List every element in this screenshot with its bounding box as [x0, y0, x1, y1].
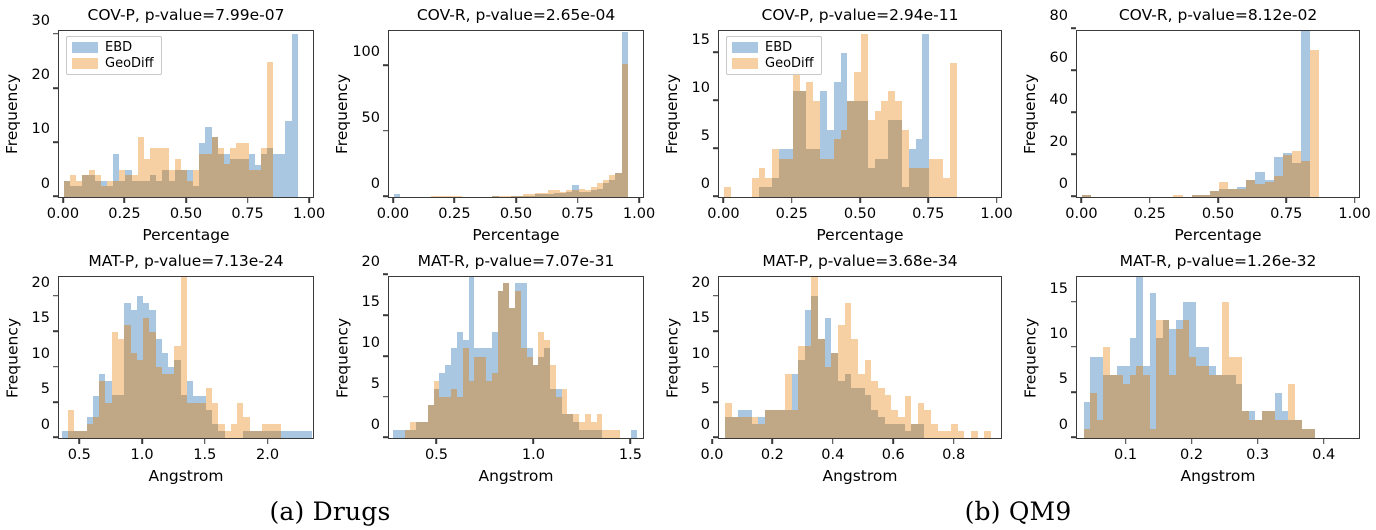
histogram-bar: [732, 417, 739, 438]
bars-layer: [1077, 277, 1359, 438]
plot-area: 0510150.10.20.30.4: [1076, 276, 1360, 439]
y-tick-label: 20: [362, 254, 388, 269]
y-tick-mark: [713, 401, 718, 403]
histogram-bar: [1196, 347, 1203, 365]
histogram-bar: [785, 410, 792, 438]
histogram-bar: [622, 64, 628, 197]
histogram-bar: [1143, 375, 1150, 438]
histogram-bar: [1262, 411, 1269, 438]
histogram-bar: [895, 101, 902, 120]
subfigure-caption-drugs: (a) Drugs: [0, 497, 660, 526]
histogram-bar: [1249, 411, 1256, 420]
histogram-bar: [1310, 50, 1319, 197]
x-tick-label: 0.75: [1270, 198, 1302, 222]
histogram-bar: [1130, 375, 1137, 438]
histogram-bar: [1274, 157, 1283, 176]
y-tick-mark: [713, 196, 718, 198]
y-tick-label: 0: [41, 176, 58, 191]
y-tick-label: 10: [692, 80, 718, 95]
axes-frame: EBDGeoDiff: [718, 30, 1002, 198]
axes-frame: [58, 276, 314, 439]
histogram-bar: [1209, 375, 1216, 438]
histogram-bar: [851, 339, 858, 389]
panel-title: MAT-R, p-value=7.07e-31: [388, 252, 644, 270]
histogram-bar: [1288, 384, 1295, 420]
histogram-bar: [752, 424, 759, 438]
x-tick-label: 0.75: [912, 198, 944, 222]
y-tick-mark: [53, 401, 58, 403]
histogram-bar: [813, 101, 820, 149]
legend-label: EBD: [105, 41, 132, 54]
histogram-bar: [550, 365, 556, 389]
histogram-bar: [806, 149, 813, 197]
histogram-bar: [267, 62, 273, 149]
panel-title: MAT-P, p-value=3.68e-34: [718, 252, 1002, 270]
y-tick-label: 0: [371, 176, 388, 191]
panel-drugs-mat-r: MAT-R, p-value=7.07e-31051015200.51.01.5…: [330, 250, 660, 485]
y-tick-label: 5: [371, 377, 388, 392]
histogram-bar: [1283, 155, 1292, 197]
histogram-bar: [1242, 411, 1249, 438]
histogram-bar: [984, 431, 991, 438]
histogram-bar: [765, 187, 772, 197]
x-axis-label: Angstrom: [58, 467, 314, 485]
y-axis-label: Frequency: [663, 276, 681, 439]
x-tick-label: 0.1: [1114, 439, 1137, 463]
histogram-bar: [1103, 347, 1110, 374]
histogram-bar: [1265, 180, 1274, 182]
histogram-bar: [858, 374, 865, 388]
axes-frame: EBDGeoDiff: [58, 30, 314, 198]
y-tick-mark: [383, 355, 388, 357]
x-tick-label: 0.50: [844, 198, 876, 222]
histogram-bar: [1222, 302, 1229, 374]
y-tick-label: 5: [701, 128, 718, 143]
histogram-bar: [881, 101, 888, 159]
x-tick-label: 0.3: [1246, 439, 1269, 463]
x-tick-label: 0.50: [170, 198, 202, 222]
histogram-bar: [1117, 375, 1124, 438]
histogram-bar: [918, 403, 925, 424]
histogram-bar: [854, 72, 861, 101]
x-tick-label: 0.2: [761, 439, 784, 463]
histogram-bar: [1169, 329, 1176, 374]
histogram-bar: [905, 431, 912, 438]
y-tick-mark: [53, 196, 58, 198]
bars-layer: [719, 277, 1001, 438]
histogram-bar: [916, 168, 923, 197]
histogram-bar: [759, 187, 766, 197]
histogram-bar: [793, 72, 800, 91]
histogram-bar: [924, 410, 931, 438]
y-tick-label: 5: [701, 382, 718, 397]
x-tick-label: 1.00: [293, 198, 325, 222]
histogram-bar: [871, 410, 878, 438]
axes-frame: [388, 30, 644, 198]
histogram-bar: [1201, 195, 1210, 197]
histogram-bar: [759, 168, 766, 187]
histogram-bar: [805, 346, 812, 438]
histogram-bar: [916, 139, 923, 168]
legend-label: EBD: [765, 41, 792, 54]
x-axis-label: Percentage: [1076, 226, 1360, 244]
histogram-bar: [622, 32, 628, 65]
y-tick-label: 0: [1059, 176, 1076, 191]
x-tick-label: 0.50: [500, 198, 532, 222]
histogram-bar: [1156, 338, 1163, 438]
x-axis-label: Angstrom: [1076, 467, 1360, 485]
y-tick-label: 5: [1059, 372, 1076, 387]
histogram-bar: [1236, 384, 1243, 438]
x-tick-label: 1.5: [193, 439, 216, 463]
y-tick-mark: [383, 130, 388, 132]
histogram-bar: [243, 417, 249, 431]
histogram-bar: [838, 381, 845, 438]
histogram-bar: [455, 196, 461, 197]
subfigure-qm9: COV-P, p-value=2.94e-11EBDGeoDiff0510150…: [660, 0, 1376, 530]
y-tick-mark: [1071, 28, 1076, 30]
histogram-bar: [394, 194, 400, 197]
x-axis-label: Percentage: [718, 226, 1002, 244]
histogram-bar: [1176, 320, 1183, 329]
subfigure-caption-qm9: (b) QM9: [660, 497, 1376, 526]
y-tick-label: 15: [362, 295, 388, 310]
y-tick-mark: [1071, 70, 1076, 72]
histogram-bar: [891, 424, 898, 438]
histogram-bar: [544, 340, 550, 348]
histogram-bar: [779, 159, 786, 197]
y-tick-mark: [713, 100, 718, 102]
histogram-bar: [841, 53, 848, 130]
x-tick-label: 0.4: [821, 439, 844, 463]
histogram-bar: [865, 395, 872, 438]
y-tick-mark: [1071, 154, 1076, 156]
histogram-bar: [1163, 320, 1170, 438]
histogram-bar: [1150, 293, 1157, 429]
y-tick-label: 50: [362, 111, 388, 126]
legend-item[interactable]: EBD: [732, 41, 814, 54]
y-axis-label: Frequency: [1021, 30, 1039, 198]
histogram-bar: [922, 34, 929, 168]
histogram-bar: [929, 159, 936, 197]
histogram-bar: [902, 130, 909, 188]
histogram-bar: [758, 417, 765, 424]
histogram-bar: [1097, 357, 1104, 420]
x-tick-label: 0.5: [425, 439, 448, 463]
color-swatch-icon: [732, 42, 758, 53]
panel-qm9-mat-p: MAT-P, p-value=3.68e-34051015200.00.20.4…: [660, 250, 1018, 485]
x-tick-label: 0.8: [942, 439, 965, 463]
y-tick-mark: [53, 366, 58, 368]
y-axis-label: Frequency: [663, 30, 681, 198]
histogram-bar: [793, 91, 800, 197]
x-tick-label: 0.00: [707, 198, 739, 222]
plot-area: EBDGeoDiff0510150.000.250.500.751.00: [718, 30, 1002, 198]
histogram-bar: [1308, 429, 1315, 438]
legend-label: GeoDiff: [105, 57, 154, 70]
histogram-bar: [1302, 429, 1309, 438]
panel-title: COV-R, p-value=8.12e-02: [1076, 6, 1360, 24]
y-tick-label: 20: [1050, 134, 1076, 149]
histogram-bar: [922, 168, 929, 197]
panel-qm9-cov-r: COV-R, p-value=8.12e-020204060800.000.25…: [1018, 4, 1376, 244]
histogram-bar: [68, 410, 74, 431]
histogram-bar: [597, 414, 603, 430]
y-tick-mark: [1071, 196, 1076, 198]
histogram-bar: [1275, 420, 1282, 438]
histogram-bar: [306, 431, 312, 438]
y-tick-mark: [53, 141, 58, 143]
axes-frame: [718, 276, 1002, 439]
x-tick-label: 0.75: [231, 198, 263, 222]
histogram-bar: [898, 417, 905, 424]
histogram-bar: [1274, 176, 1283, 197]
y-tick-mark: [713, 437, 718, 439]
x-tick-label: 0.25: [108, 198, 140, 222]
histogram-bar: [738, 410, 745, 417]
histogram-bar: [181, 276, 187, 395]
panel-title: MAT-R, p-value=1.26e-32: [1076, 252, 1360, 270]
histogram-bar: [944, 431, 951, 438]
y-tick-mark: [383, 64, 388, 66]
histogram-bar: [902, 187, 909, 197]
histogram-bar: [1249, 420, 1256, 438]
histogram-bar: [772, 178, 779, 197]
y-tick-mark: [713, 148, 718, 150]
y-tick-mark: [713, 366, 718, 368]
histogram-bar: [820, 91, 827, 158]
bars-layer: [1077, 31, 1359, 197]
y-tick-label: 10: [1050, 327, 1076, 342]
x-tick-label: 1.0: [131, 439, 154, 463]
histogram-bar: [868, 120, 875, 168]
histogram-bar: [1209, 366, 1216, 375]
subfigure-drugs: COV-P, p-value=7.99e-07EBDGeoDiff0102030…: [0, 0, 660, 530]
y-tick-mark: [1071, 437, 1076, 439]
x-axis-label: Angstrom: [718, 467, 1002, 485]
histogram-bar: [1136, 366, 1143, 438]
histogram-bar: [1202, 347, 1209, 365]
y-tick-mark: [53, 33, 58, 35]
histogram-bar: [841, 130, 848, 197]
histogram-bar: [878, 417, 885, 438]
histogram-bar: [958, 431, 965, 438]
x-tick-label: 0.2: [1180, 439, 1203, 463]
histogram-bar: [1090, 357, 1097, 393]
y-tick-label: 15: [32, 311, 58, 326]
plot-area: 051015200.51.01.52.0: [58, 276, 314, 439]
histogram-bar: [1123, 366, 1130, 384]
histogram-bar: [752, 417, 759, 424]
y-tick-label: 60: [1050, 50, 1076, 65]
plot-area: 0204060800.000.250.500.751.00: [1076, 30, 1360, 198]
y-tick-label: 20: [32, 276, 58, 291]
x-tick-label: 0.25: [438, 198, 470, 222]
axes-frame: [1076, 276, 1360, 439]
histogram-bar: [212, 403, 218, 424]
histogram-bar: [1282, 411, 1289, 420]
panel-title: MAT-P, p-value=7.13e-24: [58, 252, 314, 270]
panel-title: COV-P, p-value=7.99e-07: [58, 6, 314, 24]
legend-label: GeoDiff: [765, 57, 814, 70]
y-tick-label: 20: [692, 276, 718, 291]
y-tick-label: 15: [692, 32, 718, 47]
y-tick-label: 15: [692, 311, 718, 326]
histogram-bar: [1216, 375, 1223, 438]
panel-drugs-mat-p: MAT-P, p-value=7.13e-24051015200.51.01.5…: [0, 250, 330, 485]
panel-title: COV-R, p-value=2.65e-04: [388, 6, 644, 24]
y-tick-mark: [383, 196, 388, 198]
y-tick-mark: [383, 314, 388, 316]
histogram-bar: [1192, 195, 1201, 197]
histogram-bar: [798, 346, 805, 360]
y-tick-mark: [713, 295, 718, 297]
histogram-bar: [1255, 172, 1264, 185]
histogram-bar: [1292, 163, 1301, 197]
y-tick-label: 0: [701, 417, 718, 432]
histogram-bar: [631, 430, 637, 438]
histogram-bar: [1173, 195, 1182, 197]
x-tick-label: 1.00: [623, 198, 655, 222]
histogram-bar: [1269, 411, 1276, 438]
x-tick-label: 1.00: [1338, 198, 1370, 222]
histogram-bar: [1143, 366, 1150, 375]
histogram-bar: [911, 424, 918, 438]
histogram-bar: [1255, 420, 1262, 438]
histogram-bar: [888, 91, 895, 120]
panel-qm9-cov-p: COV-P, p-value=2.94e-11EBDGeoDiff0510150…: [660, 4, 1018, 244]
histogram-bar: [909, 168, 916, 197]
y-tick-mark: [1071, 346, 1076, 348]
color-swatch-icon: [72, 58, 98, 69]
histogram-bar: [765, 178, 772, 188]
histogram-bar: [800, 91, 807, 197]
x-tick-label: 0.00: [47, 198, 79, 222]
y-tick-mark: [1071, 301, 1076, 303]
histogram-bar: [1130, 338, 1137, 374]
histogram-bar: [943, 178, 950, 197]
histogram-bar: [858, 388, 865, 438]
plot-area: 051015200.51.01.5: [388, 276, 644, 439]
x-tick-label: 0.00: [377, 198, 409, 222]
histogram-bar: [834, 82, 841, 140]
histogram-bar: [861, 34, 868, 101]
histogram-bar: [820, 159, 827, 197]
axes-frame: [1076, 30, 1360, 198]
legend-item[interactable]: EBD: [72, 41, 154, 54]
histogram-bar: [786, 159, 793, 197]
x-axis-label: Percentage: [58, 226, 314, 244]
histogram-bar: [1156, 320, 1163, 338]
y-tick-label: 5: [41, 382, 58, 397]
histogram-bar: [1219, 189, 1228, 197]
x-tick-label: 0.5: [68, 439, 91, 463]
histogram-bar: [1090, 393, 1097, 438]
histogram-bar: [1189, 302, 1196, 356]
histogram-bar: [1219, 182, 1228, 188]
x-tick-label: 0.50: [1202, 198, 1234, 222]
y-tick-label: 100: [352, 45, 388, 60]
histogram-bar: [936, 159, 943, 197]
histogram-bar: [1229, 357, 1236, 375]
y-tick-mark: [383, 396, 388, 398]
legend-item[interactable]: GeoDiff: [732, 57, 814, 70]
bars-layer: [389, 277, 643, 438]
histogram-bar: [752, 178, 759, 197]
histogram-bar: [1183, 302, 1190, 320]
histogram-bar: [1176, 329, 1183, 438]
histogram-bar: [527, 348, 533, 356]
histogram-bar: [1222, 375, 1229, 438]
histogram-bar: [1246, 180, 1255, 197]
panel-drugs-cov-r: COV-R, p-value=2.65e-040501000.000.250.5…: [330, 4, 660, 244]
histogram-bar: [827, 159, 834, 197]
histogram-bar: [772, 410, 779, 438]
color-swatch-icon: [72, 42, 98, 53]
axes-frame: [388, 276, 644, 439]
x-tick-label: 0.75: [561, 198, 593, 222]
histogram-bar: [1103, 375, 1110, 438]
histogram-bar: [878, 388, 885, 416]
panel-drugs-cov-p: COV-P, p-value=7.99e-07EBDGeoDiff0102030…: [0, 4, 330, 244]
bars-layer: [389, 31, 643, 197]
histogram-bar: [1282, 420, 1289, 438]
y-axis-label: Frequency: [3, 276, 21, 439]
y-axis-label: Frequency: [333, 276, 351, 439]
histogram-bar: [772, 149, 779, 178]
histogram-bar: [861, 101, 868, 197]
histogram-bar: [931, 424, 938, 438]
y-tick-label: 10: [692, 346, 718, 361]
histogram-bar: [1237, 189, 1246, 197]
y-tick-label: 0: [1059, 417, 1076, 432]
y-tick-mark: [1071, 112, 1076, 114]
y-tick-mark: [383, 274, 388, 276]
y-tick-mark: [713, 330, 718, 332]
histogram-bar: [905, 396, 912, 431]
histogram-bar: [881, 159, 888, 197]
histogram-bar: [909, 149, 916, 168]
histogram-bar: [1082, 195, 1091, 197]
histogram-bar: [875, 159, 882, 197]
histogram-bar: [758, 424, 765, 438]
histogram-bar: [851, 388, 858, 438]
histogram-bar: [1237, 187, 1246, 189]
histogram-bar: [745, 410, 752, 417]
y-tick-label: 30: [32, 14, 58, 29]
y-tick-label: 10: [362, 336, 388, 351]
histogram-bar: [1229, 375, 1236, 438]
histogram-bar: [811, 296, 818, 438]
legend-item[interactable]: GeoDiff: [72, 57, 154, 70]
histogram-bar: [1301, 161, 1310, 197]
histogram-bar: [951, 424, 958, 438]
histogram-bar: [1110, 375, 1117, 438]
histogram-bar: [845, 303, 852, 374]
histogram-bar: [831, 353, 838, 438]
legend: EBDGeoDiff: [66, 36, 162, 75]
x-axis-label: Percentage: [388, 226, 644, 244]
plot-area: EBDGeoDiff01020300.000.250.500.751.00: [58, 30, 314, 198]
y-tick-label: 10: [32, 346, 58, 361]
histogram-bar: [745, 417, 752, 438]
histogram-bar: [1123, 384, 1130, 438]
histogram-bar: [818, 339, 825, 438]
histogram-bar: [738, 417, 745, 438]
y-tick-label: 80: [1050, 8, 1076, 23]
y-tick-mark: [1071, 391, 1076, 393]
histogram-bar: [871, 381, 878, 409]
